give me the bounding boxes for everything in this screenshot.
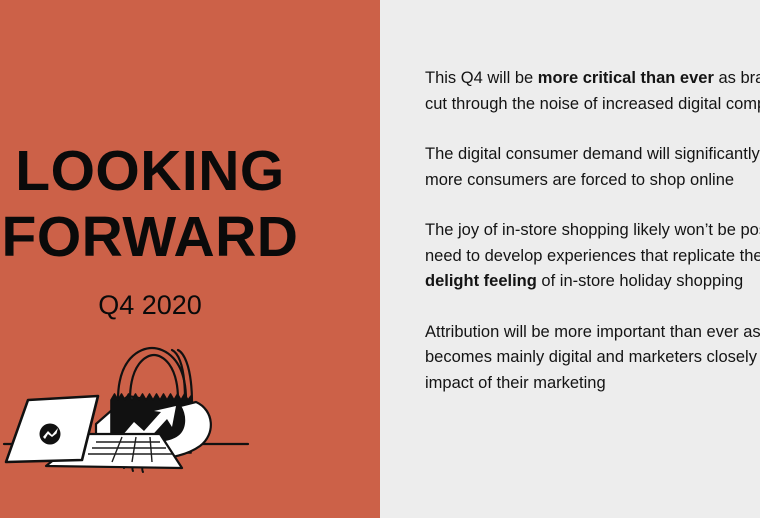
body-text: Attribution will be more important than … (425, 323, 760, 392)
illustration-svg (0, 338, 300, 486)
presentation-slide: LOOKING FORWARD Q4 2020 (0, 0, 760, 518)
body-text: The joy of in-store shopping likely won’… (425, 221, 760, 265)
body-paragraph: The digital consumer demand will signifi… (425, 142, 760, 193)
body-paragraph: Attribution will be more important than … (425, 320, 760, 397)
body-text: This Q4 will be (425, 69, 538, 87)
body-paragraph: The joy of in-store shopping likely won’… (425, 218, 760, 295)
title-line-2: FORWARD (0, 204, 300, 270)
title-line-1: LOOKING (0, 138, 300, 204)
body-text: The digital consumer demand will signifi… (425, 145, 760, 189)
body-text: of in-store holiday shopping (537, 272, 743, 290)
title-panel: LOOKING FORWARD Q4 2020 (0, 0, 380, 518)
slide-title: LOOKING FORWARD (0, 138, 300, 270)
body-copy: This Q4 will be more critical than ever … (425, 66, 760, 396)
slide-subtitle: Q4 2020 (0, 288, 300, 322)
body-paragraph: This Q4 will be more critical than ever … (425, 66, 760, 117)
bag-handle-inner (130, 355, 178, 400)
laptop-shopping-bag-growth-illustration (0, 338, 300, 486)
body-panel: This Q4 will be more critical than ever … (380, 0, 760, 518)
emphasis-text: more critical than ever (538, 69, 714, 87)
